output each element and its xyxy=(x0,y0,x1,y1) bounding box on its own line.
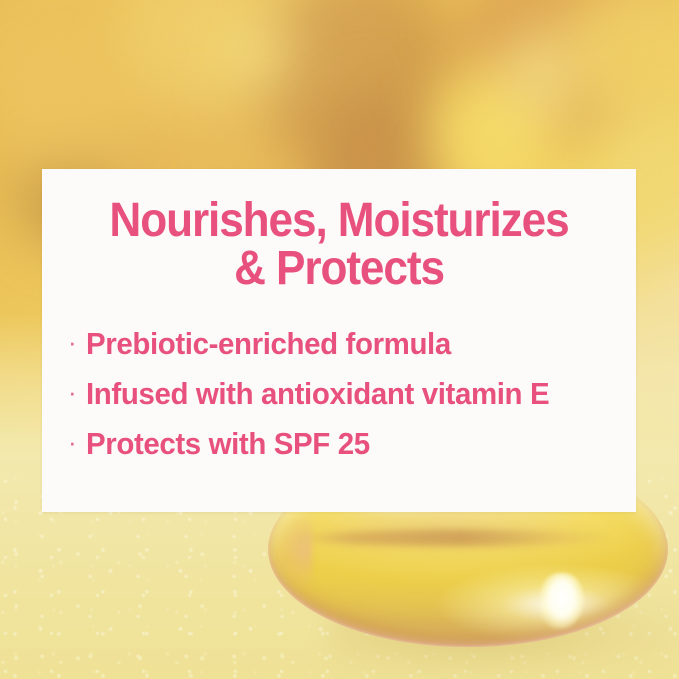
bokeh-blob xyxy=(505,30,575,120)
benefit-label: Protects with SPF 25 xyxy=(86,427,370,461)
card-headline: Nourishes, Moisturizes & Protects xyxy=(66,197,612,293)
benefits-card: Nourishes, Moisturizes & Protects · Preb… xyxy=(42,169,636,512)
bullet-dot-icon: · xyxy=(68,329,77,355)
benefit-label: Prebiotic-enriched formula xyxy=(86,327,451,361)
bullet-dot-icon: · xyxy=(68,429,77,455)
benefits-list: · Prebiotic-enriched formula · Infused w… xyxy=(68,327,628,477)
bullet-dot-icon: · xyxy=(68,379,77,405)
bokeh-blob xyxy=(215,20,295,90)
product-benefits-image: Nourishes, Moisturizes & Protects · Preb… xyxy=(0,0,679,679)
list-item: · Protects with SPF 25 xyxy=(68,427,628,477)
benefit-label: Infused with antioxidant vitamin E xyxy=(86,377,549,411)
list-item: · Prebiotic-enriched formula xyxy=(68,327,628,377)
list-item: · Infused with antioxidant vitamin E xyxy=(68,377,628,427)
